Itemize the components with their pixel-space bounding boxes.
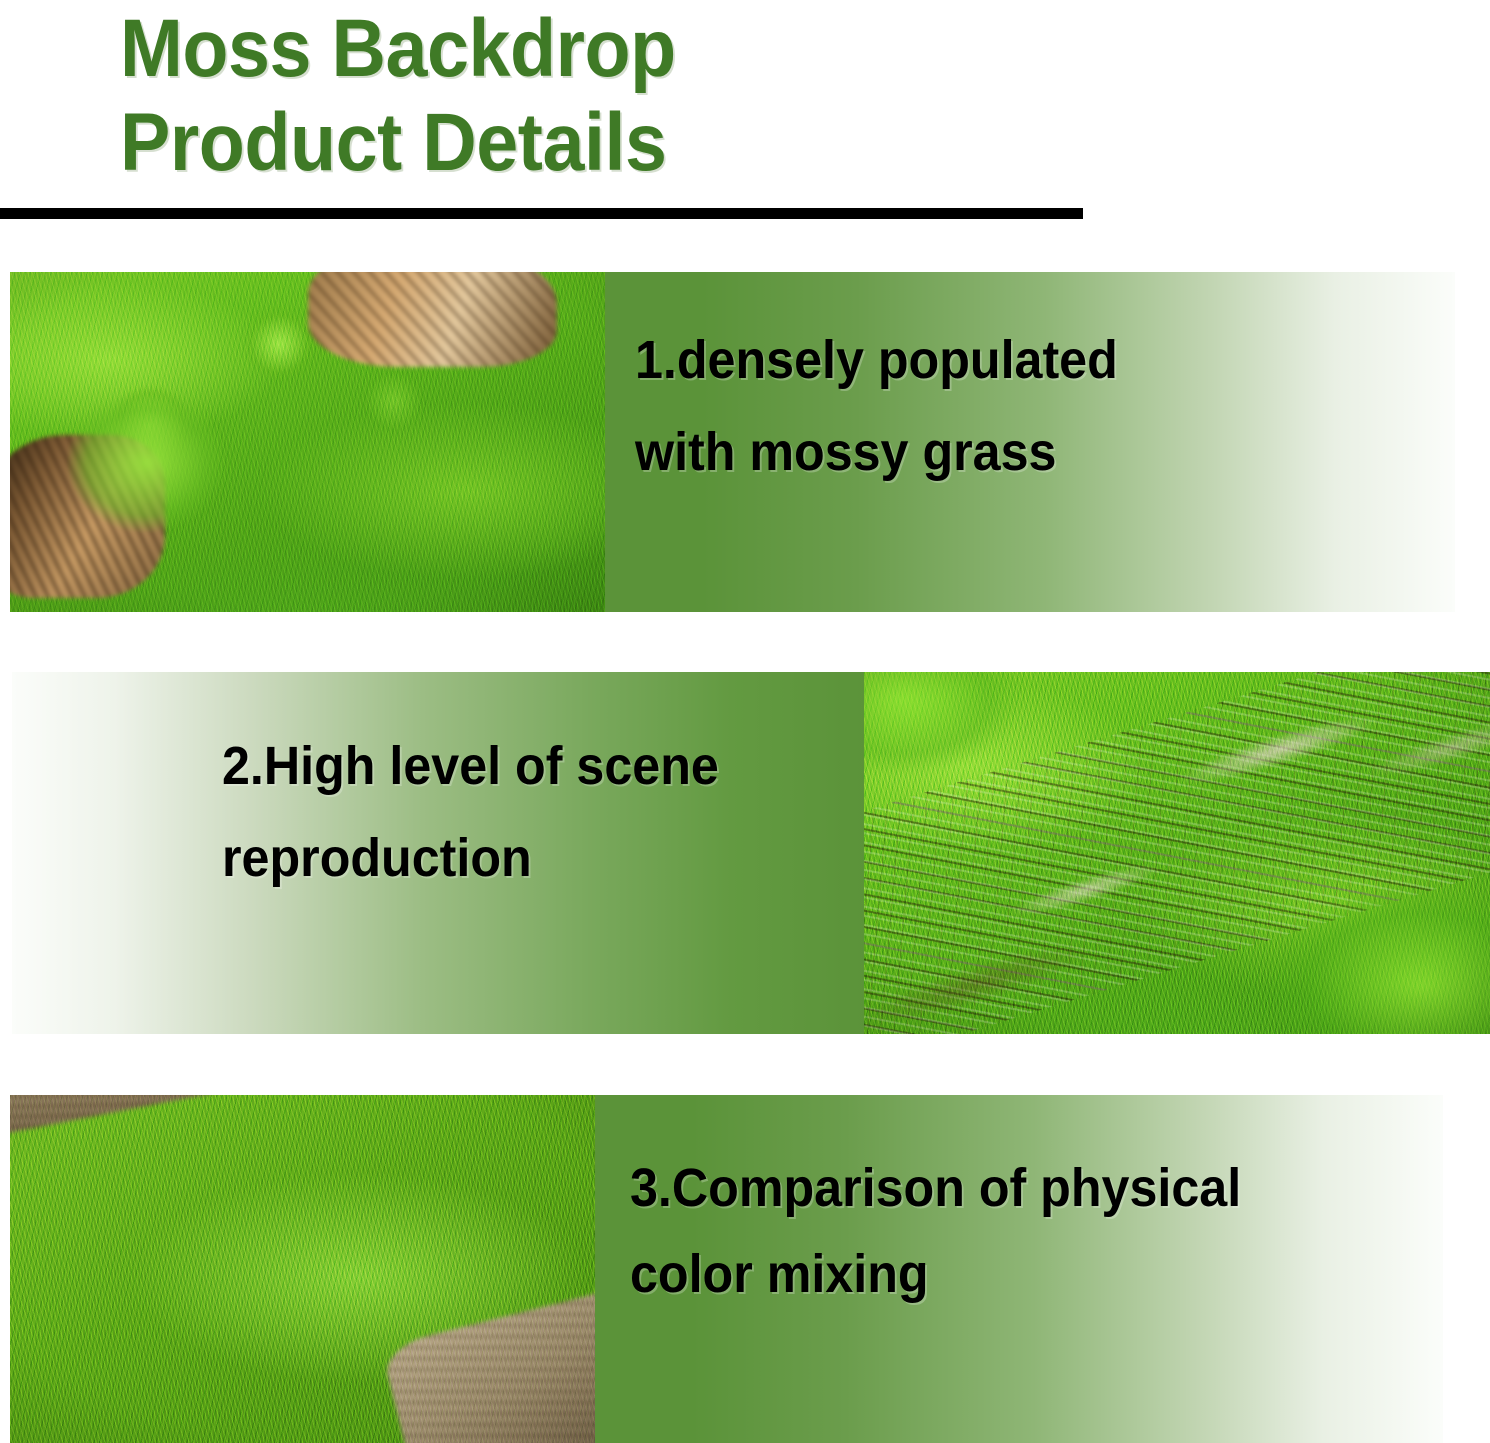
title-underline-rule — [0, 208, 1083, 219]
photo-vignette — [864, 672, 1490, 1034]
photo-vignette — [10, 272, 605, 612]
row-3-caption: 3.Comparison of physical color mixing — [630, 1145, 1365, 1317]
row-1-caption: 1.densely populated with mossy grass — [635, 314, 1370, 498]
feature-row-3: 3.Comparison of physical color mixing — [10, 1095, 1443, 1443]
page-title: Moss Backdrop Product Details — [120, 2, 1040, 190]
row-2-photo-bark-ridge — [864, 672, 1490, 1034]
row-2-caption: 2.High level of scene reproduction — [222, 720, 873, 904]
feature-row-1: 1.densely populated with mossy grass — [10, 272, 1455, 612]
row-1-photo-mossy-grass — [10, 272, 605, 612]
feature-row-2: 2.High level of scene reproduction — [12, 672, 1490, 1034]
photo-vignette — [10, 1095, 595, 1443]
row-3-photo-bark-and-moss — [10, 1095, 595, 1443]
header: Moss Backdrop Product Details — [0, 0, 1490, 220]
